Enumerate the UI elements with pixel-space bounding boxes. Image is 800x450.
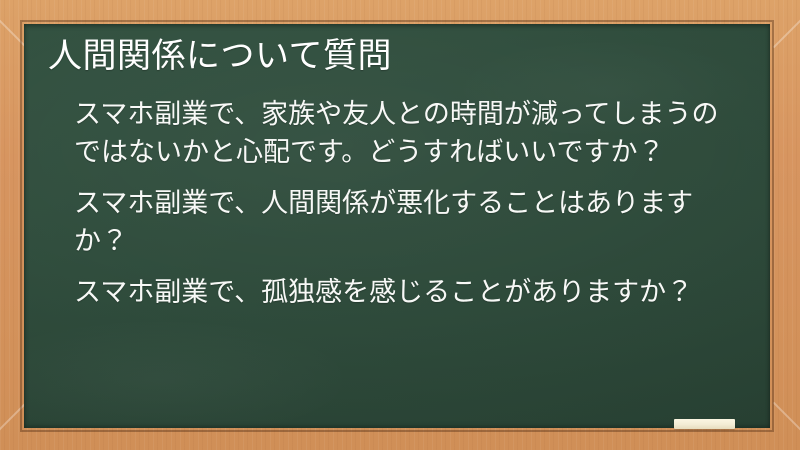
question-list: スマホ副業で、家族や友人との時間が減ってしまうのではないかと心配です。どうすれば… (36, 95, 744, 311)
chalkboard-surface: 人間関係について質問 スマホ副業で、家族や友人との時間が減ってしまうのではないか… (24, 24, 770, 428)
slide-content: 人間関係について質問 スマホ副業で、家族や友人との時間が減ってしまうのではないか… (24, 24, 770, 428)
slide-title: 人間関係について質問 (36, 33, 744, 79)
frame-miter-bottom-right (773, 402, 800, 436)
chalkboard-slide: 人間関係について質問 スマホ副業で、家族や友人との時間が減ってしまうのではないか… (0, 0, 800, 450)
question-item-1: スマホ副業で、家族や友人との時間が減ってしまうのではないかと心配です。どうすれば… (74, 95, 744, 171)
frame-miter-top-right (773, 14, 800, 48)
question-item-3: スマホ副業で、孤独感を感じることがありますか？ (74, 273, 744, 311)
chalk-stick (674, 419, 735, 429)
question-item-2: スマホ副業で、人間関係が悪化することはありますか？ (74, 184, 744, 260)
